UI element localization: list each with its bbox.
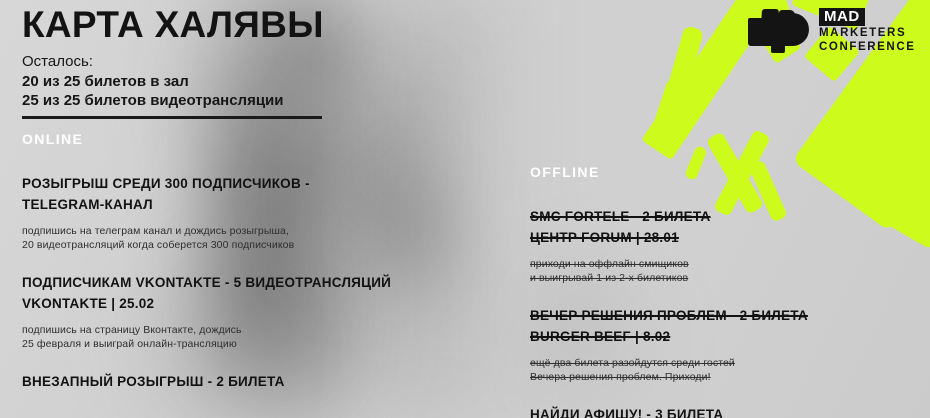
online-section-label: ONLINE [22,131,422,147]
entry-desc-line: и выигрывай 1 из 2-х билетиков [530,271,920,285]
entry-desc-line: Вечера решения проблем. Приходи! [530,370,920,384]
entry-title-line: РОЗЫГРЫШ СРЕДИ 300 ПОДПИСЧИКОВ - [22,173,422,194]
entry-desc-line: 20 видеотрансляций когда соберется 300 п… [22,238,422,252]
remaining-line-one: 20 из 25 билетов в зал [22,72,442,92]
entry-desc-line: ещё два билета разойдутся среди гостей [530,356,920,370]
entry-title-line: SMC FORTELE - 2 БИЛЕТА [530,206,920,227]
entry-title-line: TELEGRAM-КАНАЛ [22,194,422,215]
logo-line-one: MARKETERS [819,27,916,40]
online-entry[interactable]: ВНЕЗАПНЫЙ РОЗЫГРЫШ - 2 БИЛЕТА TELEGRAM п… [22,371,422,386]
poster-canvas: MAD MARKETERS CONFERENCE КАРТА ХАЛЯВЫ Ос… [0,0,930,418]
entry-title: SMC FORTELE - 2 БИЛЕТА ЦЕНТР FORUM | 28.… [530,206,920,248]
neon-stroke-icon [648,77,684,145]
entry-title-line: ВЕЧЕР РЕШЕНИЯ ПРОБЛЕМ - 2 БИЛЕТА [530,305,920,326]
logo-wordmark: MAD MARKETERS CONFERENCE [819,6,916,53]
entry-title: ПОДПИСЧИКАМ VKONTAKTE - 5 ВИДЕОТРАНСЛЯЦИ… [22,272,422,314]
online-entry[interactable]: ПОДПИСЧИКАМ VKONTAKTE - 5 ВИДЕОТРАНСЛЯЦИ… [22,272,422,351]
header-divider [22,116,322,119]
online-column: ONLINE РОЗЫГРЫШ СРЕДИ 300 ПОДПИСЧИКОВ - … [22,131,422,386]
mad-conference-logo[interactable]: MAD MARKETERS CONFERENCE [748,6,916,53]
entry-title-line: VKONTAKTE | 25.02 [22,293,422,314]
entry-desc-line: приходи на оффлайн смищиков [530,257,920,271]
offline-column: OFFLINE SMC FORTELE - 2 БИЛЕТА ЦЕНТР FOR… [530,164,920,418]
logo-brand: MAD [819,8,865,26]
entry-description: приходи на оффлайн смищиков и выигрывай … [530,257,920,285]
mad-logo-mark-icon [748,7,810,53]
offline-entry[interactable]: НАЙДИ АФИШУ! - 3 БИЛЕТА CHISINAU | 10.02… [530,404,920,418]
entry-title: ВЕЧЕР РЕШЕНИЯ ПРОБЛЕМ - 2 БИЛЕТА BURGER … [530,305,920,347]
page-title: КАРТА ХАЛЯВЫ [22,4,442,46]
entry-title-line: ЦЕНТР FORUM | 28.01 [530,227,920,248]
remaining-line-two: 25 из 25 билетов видеотрансляции [22,91,442,111]
entry-description: подпишись на телеграм канал и дождись ро… [22,224,422,252]
remaining-label: Осталось: [22,52,442,72]
neon-stroke-icon [660,25,705,119]
entry-desc-line: 25 февраля и выиграй онлайн-трансляцию [22,337,422,351]
offline-section-label: OFFLINE [530,164,920,180]
entry-title-line: ВНЕЗАПНЫЙ РОЗЫГРЫШ - 2 БИЛЕТА [22,371,422,386]
entry-title-line: НАЙДИ АФИШУ! - 3 БИЛЕТА [530,404,920,418]
entry-description: подпишись на страницу Вконтакте, дождись… [22,323,422,351]
poster-header: КАРТА ХАЛЯВЫ Осталось: 20 из 25 билетов … [22,4,442,119]
entry-title: РОЗЫГРЫШ СРЕДИ 300 ПОДПИСЧИКОВ - TELEGRA… [22,173,422,215]
remaining-tickets-block: Осталось: 20 из 25 билетов в зал 25 из 2… [22,52,442,111]
entry-title: НАЙДИ АФИШУ! - 3 БИЛЕТА CHISINAU | 10.02… [530,404,920,418]
offline-entry[interactable]: SMC FORTELE - 2 БИЛЕТА ЦЕНТР FORUM | 28.… [530,206,920,285]
logo-line-two: CONFERENCE [819,41,916,54]
entry-title: ВНЕЗАПНЫЙ РОЗЫГРЫШ - 2 БИЛЕТА TELEGRAM [22,371,422,386]
entry-desc-line: подпишись на страницу Вконтакте, дождись [22,323,422,337]
entry-desc-line: подпишись на телеграм канал и дождись ро… [22,224,422,238]
online-entry[interactable]: РОЗЫГРЫШ СРЕДИ 300 ПОДПИСЧИКОВ - TELEGRA… [22,173,422,252]
entry-description: ещё два билета разойдутся среди гостей В… [530,356,920,384]
entry-title-line: BURGER BEEF | 8.02 [530,326,920,347]
entry-title-line: ПОДПИСЧИКАМ VKONTAKTE - 5 ВИДЕОТРАНСЛЯЦИ… [22,272,422,293]
offline-entry[interactable]: ВЕЧЕР РЕШЕНИЯ ПРОБЛЕМ - 2 БИЛЕТА BURGER … [530,305,920,384]
